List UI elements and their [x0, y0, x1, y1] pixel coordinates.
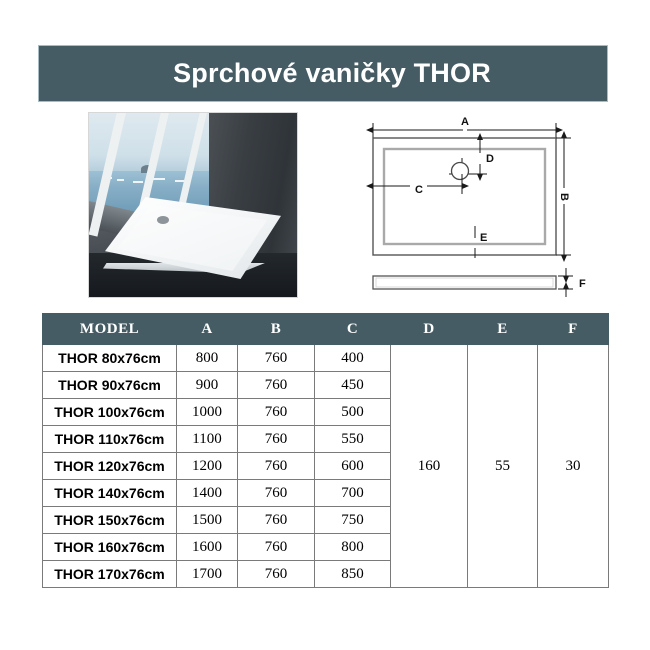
cell-model: THOR 140x76cm [43, 480, 177, 507]
cell-model: THOR 110x76cm [43, 426, 177, 453]
cell-a: 1600 [177, 534, 238, 561]
cell-model: THOR 100x76cm [43, 399, 177, 426]
cell-c: 450 [315, 372, 391, 399]
boat-mark [153, 178, 165, 180]
cell-a: 1100 [177, 426, 238, 453]
label-e: E [480, 232, 487, 244]
product-photo [88, 112, 298, 298]
table-row: THOR 80x76cm8007604001605530 [43, 345, 609, 372]
cell-f-merged: 30 [538, 345, 609, 588]
title-banner: Sprchové vaničky THOR [38, 45, 608, 102]
dimension-f [558, 268, 573, 297]
cell-b: 760 [238, 453, 315, 480]
cell-d-merged: 160 [391, 345, 468, 588]
column-header-f: F [538, 314, 609, 345]
cell-a: 1400 [177, 480, 238, 507]
column-header-d: D [391, 314, 468, 345]
cell-c: 700 [315, 480, 391, 507]
cell-b: 760 [238, 507, 315, 534]
boat-mark [117, 179, 124, 181]
cell-model: THOR 80x76cm [43, 345, 177, 372]
cell-a: 1700 [177, 561, 238, 588]
cell-c: 850 [315, 561, 391, 588]
cell-a: 900 [177, 372, 238, 399]
cell-c: 600 [315, 453, 391, 480]
cell-b: 760 [238, 399, 315, 426]
technical-drawing: A B [355, 108, 610, 304]
cell-model: THOR 150x76cm [43, 507, 177, 534]
cell-c: 750 [315, 507, 391, 534]
column-header-b: B [238, 314, 315, 345]
label-d: D [486, 153, 494, 165]
column-header-a: A [177, 314, 238, 345]
cell-c: 800 [315, 534, 391, 561]
cell-b: 760 [238, 345, 315, 372]
cell-a: 1200 [177, 453, 238, 480]
cell-c: 550 [315, 426, 391, 453]
cell-b: 760 [238, 372, 315, 399]
drain-icon [157, 216, 169, 224]
column-header-e: E [468, 314, 538, 345]
cell-a: 1500 [177, 507, 238, 534]
cell-c: 500 [315, 399, 391, 426]
label-b: B [558, 193, 570, 201]
page-title: Sprchové vaničky THOR [155, 58, 491, 89]
column-header-model: MODEL [43, 314, 177, 345]
cell-model: THOR 170x76cm [43, 561, 177, 588]
table-header-row: MODEL A B C D E F [43, 314, 609, 345]
specification-table: MODEL A B C D E F THOR 80x76cm8007604001… [42, 313, 609, 588]
label-f: F [579, 278, 586, 290]
product-spec-sheet: Sprchové vaničky THOR [0, 0, 650, 650]
cell-model: THOR 120x76cm [43, 453, 177, 480]
cell-b: 760 [238, 561, 315, 588]
cell-e-merged: 55 [468, 345, 538, 588]
cell-a: 1000 [177, 399, 238, 426]
cell-b: 760 [238, 534, 315, 561]
cell-a: 800 [177, 345, 238, 372]
boat-mark [133, 181, 143, 183]
cell-b: 760 [238, 426, 315, 453]
cell-b: 760 [238, 480, 315, 507]
column-header-c: C [315, 314, 391, 345]
label-a: A [461, 116, 469, 128]
label-c: C [415, 184, 423, 196]
cell-model: THOR 160x76cm [43, 534, 177, 561]
cell-c: 400 [315, 345, 391, 372]
tray-profile-inner [376, 278, 553, 287]
cell-model: THOR 90x76cm [43, 372, 177, 399]
